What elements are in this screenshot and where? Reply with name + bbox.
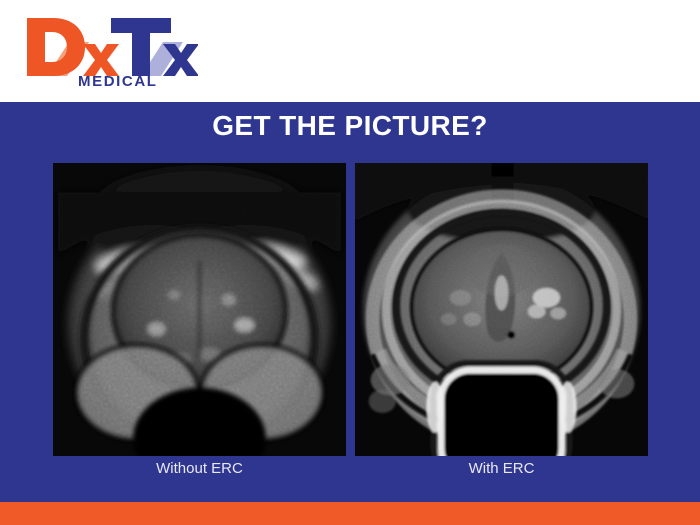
comparison-panels: Without ERC bbox=[0, 163, 700, 458]
footer-accent-bar bbox=[0, 502, 700, 525]
page-header: MEDICAL bbox=[0, 0, 700, 102]
slide-body: GET THE PICTURE? bbox=[0, 102, 700, 502]
logo-letter-d bbox=[27, 18, 85, 76]
slide-title: GET THE PICTURE? bbox=[0, 110, 700, 142]
panel-with-erc: With ERC bbox=[355, 163, 648, 456]
mri-image-without-erc bbox=[53, 163, 346, 456]
caption-without-erc: Without ERC bbox=[53, 460, 346, 477]
caption-with-erc: With ERC bbox=[355, 460, 648, 477]
panel-without-erc: Without ERC bbox=[53, 163, 346, 456]
logo-tagline-text: MEDICAL bbox=[78, 73, 158, 90]
logo-letter-x-small bbox=[83, 44, 119, 76]
logo-svg: MEDICAL bbox=[23, 14, 198, 90]
dxtx-medical-logo: MEDICAL bbox=[23, 14, 198, 90]
mri-image-with-erc bbox=[355, 163, 648, 456]
